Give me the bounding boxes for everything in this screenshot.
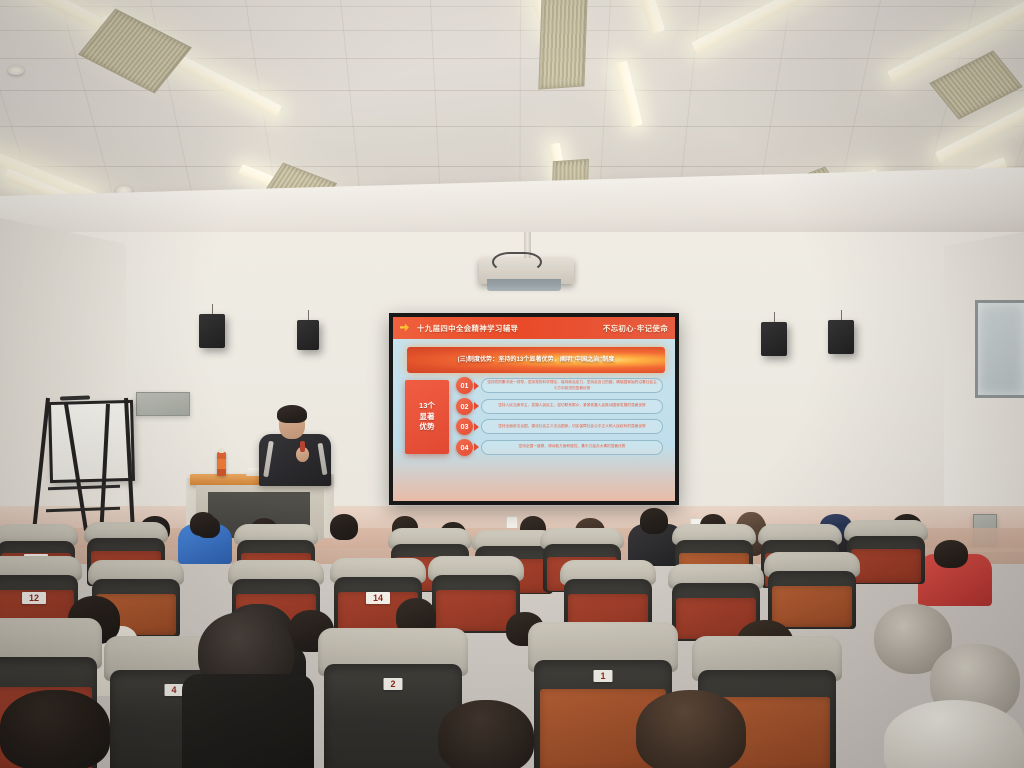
wall-speaker-left	[199, 314, 225, 348]
slide-badge-line3: 优势	[419, 423, 434, 431]
slide-header-left-text: 十九届四中全会精神学习辅导	[417, 323, 518, 334]
slide-point-row: 01 坚持党的集中统一领导，坚持党的科学理论，保持政治定力，坚持走自己的路，确保…	[456, 377, 663, 394]
whiteboard-surface	[48, 400, 135, 483]
slide-point-text: 坚持全面依法治国，建设社会主义法治国家，切实保障社会公平正义和人民权利的显著优势	[498, 424, 646, 430]
slide-header: 十九届四中全会精神学习辅导 不忘初心·牢记使命	[393, 317, 675, 339]
projection-screen: 十九届四中全会精神学习辅导 不忘初心·牢记使命 (三)制度优势：坚持的13个显著…	[393, 317, 675, 501]
projection-screen-frame: 十九届四中全会精神学习辅导 不忘初心·牢记使命 (三)制度优势：坚持的13个显著…	[389, 313, 679, 505]
projector-lens	[487, 279, 561, 291]
lecture-hall-photo: 十九届四中全会精神学习辅导 不忘初心·牢记使命 (三)制度优势：坚持的13个显著…	[0, 0, 1024, 768]
slide-title-banner: (三)制度优势：坚持的13个显著优势，阐明"中国之治"制度	[407, 347, 665, 373]
wall-speaker-far-right	[828, 320, 854, 354]
slide-point-text: 坚持人民当家作主，发展人民民主，密切联系群众，紧紧依靠人民推动国家发展的显著优势	[498, 403, 646, 409]
seat-number-label: 12	[22, 592, 46, 604]
arrow-icon	[474, 382, 479, 390]
slide-point-row: 04 坚持全国一盘棋，调动各方面积极性，集中力量办大事的显著优势	[456, 439, 663, 456]
slide-header-right-text: 不忘初心·牢记使命	[603, 323, 668, 334]
wall-speaker-mid	[297, 320, 319, 350]
slide-point-text: 坚持党的集中统一领导，坚持党的科学理论，保持政治定力，坚持走自己的路，确保国家始…	[486, 380, 658, 391]
wall-speaker-right	[761, 322, 787, 356]
ceiling-grid-line	[0, 126, 1024, 127]
slide-point-number: 02	[456, 398, 473, 415]
slide-point-pill: 坚持人民当家作主，发展人民民主，密切联系群众，紧紧依靠人民推动国家发展的显著优势	[481, 399, 663, 414]
ceiling-spot	[8, 66, 24, 75]
arrow-icon	[474, 423, 479, 431]
slide-point-pill: 坚持全国一盘棋，调动各方面积极性，集中力量办大事的显著优势	[481, 440, 663, 455]
projector-cable	[492, 252, 542, 272]
table-row[interactable]	[764, 552, 860, 626]
slide-point-pill: 坚持全面依法治国，建设社会主义法治国家，切实保障社会公平正义和人民权利的显著优势	[481, 419, 663, 434]
slide-point-text: 坚持全国一盘棋，调动各方面积极性，集中力量办大事的显著优势	[519, 444, 626, 450]
arrow-icon	[474, 443, 479, 451]
seat-number-label: 4	[164, 684, 183, 696]
party-emblem-icon	[400, 323, 413, 334]
microphone-icon	[300, 441, 305, 452]
slide-banner-line1: (三)制度优势：坚持的13个显著优势，阐明"中国之治"制度	[454, 356, 619, 365]
slide-point-list: 01 坚持党的集中统一领导，坚持党的科学理论，保持政治定力，坚持走自己的路，确保…	[456, 377, 663, 487]
slide-body: 13个 显著 优势 01 坚持党的集中统一领导，坚持党的科学理论，保持政治定力，…	[393, 377, 675, 487]
slide-badge-line1: 13个	[419, 402, 435, 410]
water-bottle	[217, 452, 226, 476]
slide-badge: 13个 显著 优势	[405, 380, 449, 454]
slide-point-number: 04	[456, 439, 473, 456]
seat-number-label: 2	[383, 678, 402, 690]
seat-number-label: 14	[366, 592, 390, 604]
ceiling-grid-line	[0, 6, 1024, 7]
slide-point-row: 02 坚持人民当家作主，发展人民民主，密切联系群众，紧紧依靠人民推动国家发展的显…	[456, 398, 663, 415]
slide-point-pill: 坚持党的集中统一领导，坚持党的科学理论，保持政治定力，坚持走自己的路，确保国家始…	[481, 378, 663, 393]
seat-number-label: 1	[593, 670, 612, 682]
slide-point-number: 01	[456, 377, 473, 394]
arrow-icon	[474, 402, 479, 410]
left-wall	[0, 218, 126, 548]
slide-point-number: 03	[456, 418, 473, 435]
window	[975, 300, 1024, 398]
ceiling-grid-line	[0, 166, 1024, 167]
slide-badge-line2: 显著	[419, 413, 434, 421]
slide-point-row: 03 坚持全面依法治国，建设社会主义法治国家，切实保障社会公平正义和人民权利的显…	[456, 418, 663, 435]
presenter-hair	[277, 405, 307, 423]
wall-control-panel[interactable]	[136, 392, 190, 416]
